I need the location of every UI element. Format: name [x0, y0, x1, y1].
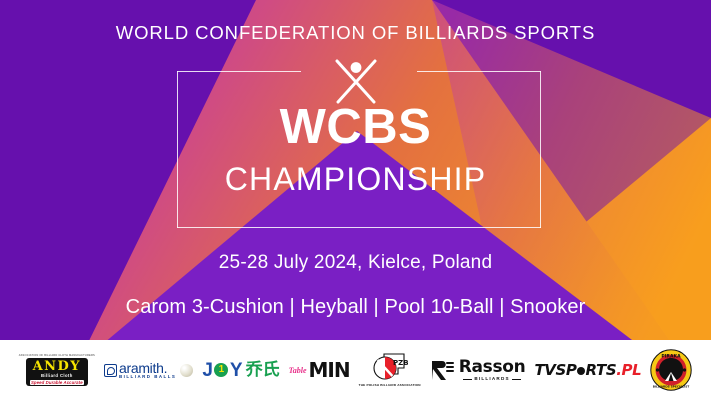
sponsor-logo-joy[interactable]: J 1 Y 乔氏 [202, 361, 279, 380]
aramith-monogram-icon [104, 364, 117, 377]
andy-wordmark: ANDY [33, 360, 82, 373]
page-subtitle: CHAMPIONSHIP [0, 163, 711, 195]
rasson-rule-right [512, 379, 521, 380]
min-wordmark: MIN [309, 360, 350, 380]
min-script-word: Table [289, 366, 307, 375]
joy-ball-icon: 1 [214, 363, 228, 377]
event-disciplines: Carom 3-Cushion | Heyball | Pool 10-Ball… [0, 296, 711, 319]
joy-chinese-name: 乔氏 [246, 362, 280, 379]
crossed-cues-icon [332, 58, 380, 104]
rasson-subtitle: BILLIARDS [474, 377, 509, 382]
tvsports-tld: .PL [616, 361, 641, 379]
sponsor-logo-andy[interactable]: ASSOCIATION OF BILLIARD CLOTH MANUFACTUR… [19, 354, 95, 386]
tvsports-ball-icon [577, 367, 585, 375]
wcbs-championship-poster: WORLD CONFEDERATION OF BILLIARDS SPORTS … [0, 0, 711, 400]
event-dateline: 25-28 July 2024, Kielce, Poland [0, 252, 711, 274]
svg-text:PZBil: PZBil [393, 359, 408, 367]
sponsor-logo-pzbil[interactable]: PZBil THE POLISH BILLIARD ASSOCIATION [359, 352, 421, 388]
tvsports-word-1: TVSP [534, 361, 576, 379]
rasson-wordmark: Rasson [459, 359, 526, 376]
andy-tagline: Speed Durable Accurate [30, 380, 84, 385]
piraka-name: PIRAKA [662, 353, 682, 359]
piraka-badge-icon: PIRAKA BILLIARDS SPECIALIST [650, 349, 692, 391]
rasson-mark-icon [430, 359, 456, 381]
sponsor-logo-rasson[interactable]: Rasson BILLIARDS [430, 359, 526, 382]
pzbil-subtitle: THE POLISH BILLIARD ASSOCIATION [359, 383, 421, 388]
aramith-wordmark: aramith. [119, 361, 176, 375]
aramith-subtitle: BILLIARD BALLS [119, 375, 176, 379]
sponsor-logo-tvsports[interactable]: TVSPRTS.PL [534, 361, 641, 379]
pzbil-emblem-icon: PZBil [372, 352, 408, 382]
joy-letter-y: Y [230, 361, 243, 380]
piraka-subtitle: BILLIARDS SPECIALIST [653, 385, 690, 389]
billiard-ball-icon [180, 364, 193, 377]
sponsor-logo-piraka[interactable]: PIRAKA BILLIARDS SPECIALIST [650, 349, 692, 391]
page-title: WCBS [0, 103, 711, 152]
joy-letter-j: J [202, 361, 213, 380]
andy-top-line: ASSOCIATION OF BILLIARD CLOTH MANUFACTUR… [19, 354, 95, 357]
sponsor-logo-table-min[interactable]: Table MIN [289, 360, 350, 380]
tvsports-word-2: RTS [586, 361, 617, 379]
sponsor-bar: ASSOCIATION OF BILLIARD CLOTH MANUFACTUR… [0, 340, 711, 400]
andy-subtitle: Billiard Cloth [41, 373, 73, 379]
organisation-headline: WORLD CONFEDERATION OF BILLIARDS SPORTS [0, 22, 711, 44]
rasson-rule-left [463, 379, 472, 380]
sponsor-logo-aramith[interactable]: aramith. BILLIARD BALLS [104, 361, 193, 380]
